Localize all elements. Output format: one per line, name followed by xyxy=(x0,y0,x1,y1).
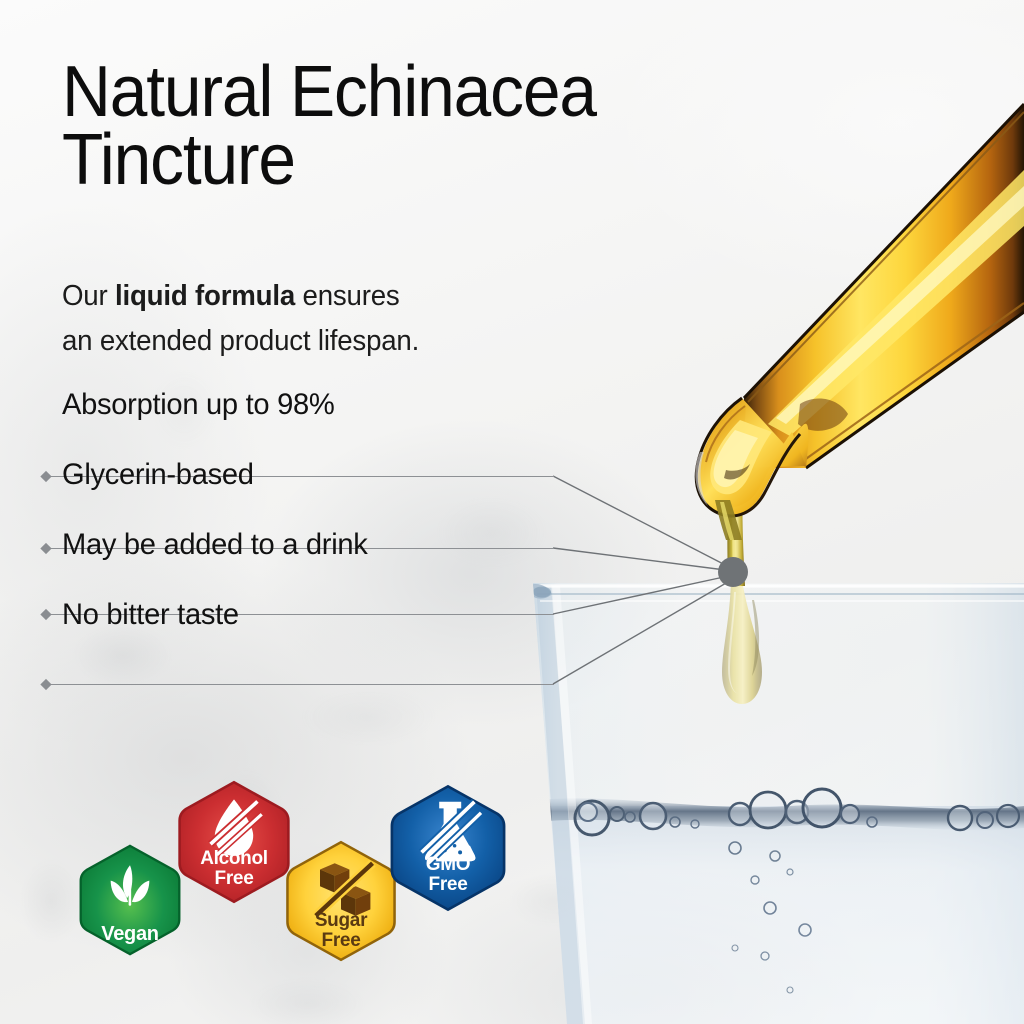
badge-alcohol-free[interactable]: Alcohol Free xyxy=(170,778,298,906)
hexagon-shape xyxy=(170,778,298,906)
product-infographic: Natural Echinacea Tincture Our liquid fo… xyxy=(0,0,1024,1024)
badge-gmo-free[interactable]: GMO Free xyxy=(382,782,514,914)
certification-badges: Vegan xyxy=(0,0,1024,1024)
hexagon-shape xyxy=(382,782,514,914)
